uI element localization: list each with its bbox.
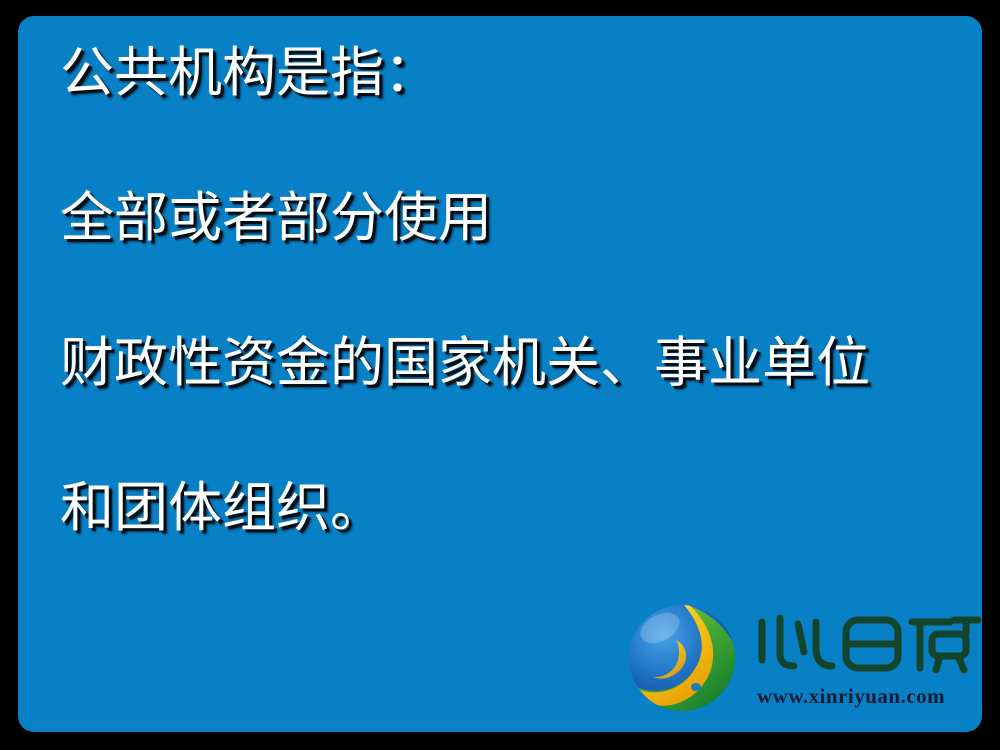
slide-text-line-1: 公共机构是指： <box>60 46 960 100</box>
slide-body-text: 公共机构是指： 全部或者部分使用 财政性资金的国家机关、事业单位 和团体组织。 <box>60 46 960 535</box>
slide-content-panel: 公共机构是指： 全部或者部分使用 财政性资金的国家机关、事业单位 和团体组织。 <box>18 16 982 732</box>
slide-text-line-3: 财政性资金的国家机关、事业单位 <box>60 336 960 390</box>
company-logo: www.xinriyuan.com <box>626 602 988 724</box>
slide-text-line-2: 全部或者部分使用 <box>60 191 960 245</box>
logo-website-url: www.xinriyuan.com <box>757 684 989 709</box>
logo-wordmark-xinriyuan <box>754 608 986 678</box>
globe-leaf-sphere-icon <box>626 602 738 714</box>
presentation-slide: 公共机构是指： 全部或者部分使用 财政性资金的国家机关、事业单位 和团体组织。 <box>0 0 1000 750</box>
slide-text-line-4: 和团体组织。 <box>60 481 960 535</box>
